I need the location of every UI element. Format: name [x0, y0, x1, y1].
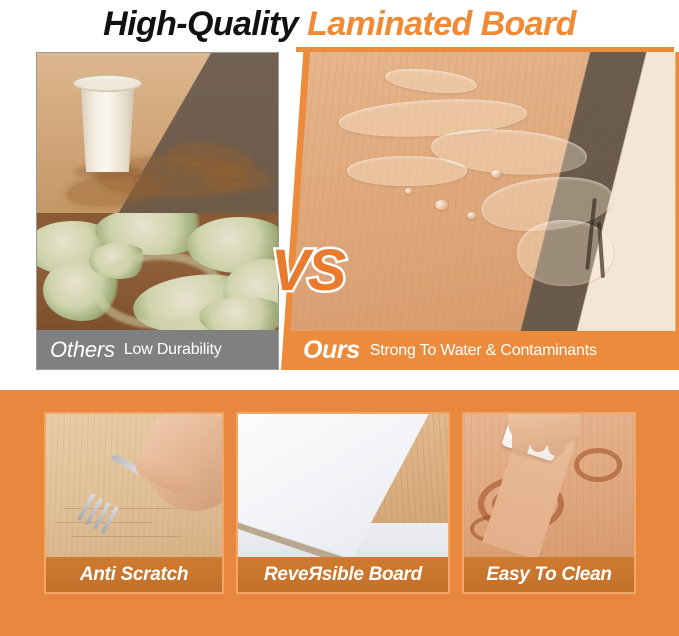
ours-panel: Ours Strong To Water & Contaminants: [281, 52, 679, 370]
feature-card-reversible-board: ReveЯsible Board: [236, 412, 450, 594]
title-part-orange: Laminated Board: [307, 5, 576, 44]
vs-badge: VS: [271, 242, 344, 300]
scratch-line: [72, 536, 182, 537]
feature-photo-anti-scratch: [46, 414, 222, 557]
comparison-section: Others Low Durability Ours St: [0, 52, 679, 370]
page-title: High-Quality Laminated Board: [0, 0, 679, 48]
paper-cup: [76, 80, 139, 172]
feature-card-easy-to-clean: Easy To Clean: [462, 412, 636, 594]
others-label-bar: Others Low Durability: [37, 330, 278, 369]
liquid-ring: [225, 179, 247, 188]
water-bead: [467, 212, 476, 219]
spill-stain: [574, 448, 622, 482]
mold-ring: [93, 251, 225, 329]
ours-label-bar: Ours Strong To Water & Contaminants: [281, 331, 679, 370]
features-band: Anti Scratch ReveЯsible Board: [0, 390, 679, 636]
ours-label-sub: Strong To Water & Contaminants: [370, 342, 597, 360]
others-top-photo: [37, 53, 278, 213]
feature-photo-reversible-board: [238, 414, 448, 557]
others-label-lead: Others: [50, 337, 115, 363]
title-part-dark: High-Quality: [103, 5, 298, 44]
water-bead: [491, 170, 501, 178]
feature-label: ReveЯsible Board: [238, 557, 448, 592]
water-film: [384, 65, 478, 96]
cup-inner: [79, 79, 136, 90]
ours-label-lead: Ours: [303, 336, 360, 365]
liquid-ring: [187, 159, 213, 170]
hand: [508, 414, 580, 446]
feature-photo-easy-to-clean: [464, 414, 634, 557]
feature-card-anti-scratch: Anti Scratch: [44, 412, 224, 594]
others-bottom-photo: [37, 213, 278, 332]
ours-panel-inner: Ours Strong To Water & Contaminants: [281, 52, 679, 370]
water-bead: [405, 188, 412, 194]
others-panel: Others Low Durability: [36, 52, 279, 370]
liquid-ring: [133, 173, 167, 186]
feature-label: Anti Scratch: [46, 557, 222, 592]
fork-tines: [77, 493, 123, 537]
water-film: [347, 156, 467, 186]
water-bead: [435, 200, 448, 210]
feature-label: Easy To Clean: [464, 557, 634, 592]
features-row: Anti Scratch ReveЯsible Board: [44, 412, 636, 594]
others-label-sub: Low Durability: [124, 341, 222, 359]
